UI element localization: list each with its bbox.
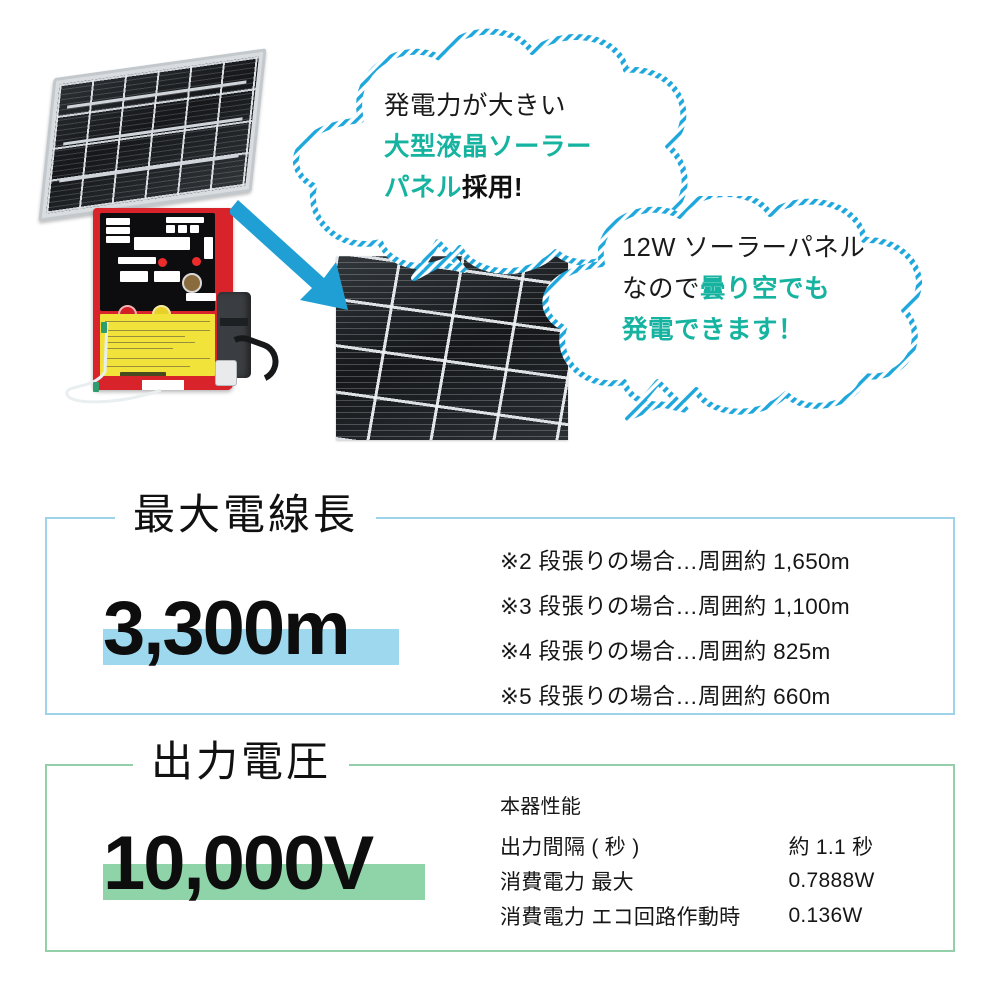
perf-label: 出力間隔 ( 秒 ) bbox=[500, 828, 740, 863]
output-voltage-value: 10,000V bbox=[103, 820, 372, 907]
performance-table-title: 本器性能 bbox=[500, 790, 581, 819]
spec-max-wire-length: 最大電線長 3,300m ※2 段張りの場合…周囲約 1,650m ※3 段張り… bbox=[45, 495, 955, 715]
output-voltage-value-block: 10,000V bbox=[103, 820, 372, 907]
spec-header-green: 出力電圧 bbox=[45, 742, 955, 788]
spec-output-voltage: 出力電圧 10,000V 本器性能 出力間隔 ( 秒 ) 約 1.1 秒 消費電… bbox=[45, 742, 955, 952]
spec-title-max-wire-length: 最大電線長 bbox=[115, 481, 376, 542]
perf-label: 消費電力 最大 bbox=[500, 863, 740, 898]
note-row: ※4 段張りの場合…周囲約 825m bbox=[500, 629, 850, 674]
table-row: 消費電力 最大 0.7888W bbox=[500, 863, 875, 898]
note-row: ※5 段張りの場合…周囲約 660m bbox=[500, 674, 850, 719]
speech-bubble-cloudy: 12W ソーラーパネル なので曇り空でも 発電できます！ bbox=[540, 196, 960, 426]
max-wire-length-value-block: 3,300m bbox=[103, 585, 349, 672]
table-row: 消費電力 エコ回路作動時 0.136W bbox=[500, 898, 875, 933]
max-wire-length-notes: ※2 段張りの場合…周囲約 1,650m ※3 段張りの場合…周囲約 1,100… bbox=[500, 539, 850, 719]
perf-value: 0.136W bbox=[740, 898, 874, 933]
bubble-cloudy-line-1: 12W ソーラーパネル bbox=[622, 228, 865, 269]
controller-front-panel bbox=[100, 213, 215, 311]
title-rule-left bbox=[45, 764, 107, 766]
infographic-root: 発電力が大きい 大型液晶ソーラー パネル採用! bbox=[0, 0, 1000, 1000]
max-wire-length-value: 3,300m bbox=[103, 585, 349, 672]
product-hero-area: 発電力が大きい 大型液晶ソーラー パネル採用! bbox=[0, 0, 1000, 470]
bubble-power-line-2: 大型液晶ソーラー bbox=[384, 127, 592, 168]
note-row: ※3 段張りの場合…周囲約 1,100m bbox=[500, 584, 850, 629]
title-rule-right bbox=[375, 764, 955, 766]
perf-value: 約 1.1 秒 bbox=[740, 828, 874, 863]
note-row: ※2 段張りの場合…周囲約 1,650m bbox=[500, 539, 850, 584]
bubble-cloudy-line-2: なので曇り空でも bbox=[622, 269, 865, 310]
table-row: 出力間隔 ( 秒 ) 約 1.1 秒 bbox=[500, 828, 875, 863]
bubble-power-line-1: 発電力が大きい bbox=[384, 86, 592, 127]
earth-wire bbox=[53, 320, 223, 400]
spec-header-blue: 最大電線長 bbox=[45, 495, 955, 541]
title-rule-right bbox=[427, 517, 955, 519]
bubble-cloudy-line-3: 発電できます！ bbox=[622, 310, 865, 351]
perf-label: 消費電力 エコ回路作動時 bbox=[500, 898, 740, 933]
perf-value: 0.7888W bbox=[740, 863, 874, 898]
spec-title-output-voltage: 出力電圧 bbox=[133, 728, 349, 789]
performance-table: 出力間隔 ( 秒 ) 約 1.1 秒 消費電力 最大 0.7888W 消費電力 … bbox=[500, 828, 875, 933]
title-rule-left bbox=[45, 517, 107, 519]
